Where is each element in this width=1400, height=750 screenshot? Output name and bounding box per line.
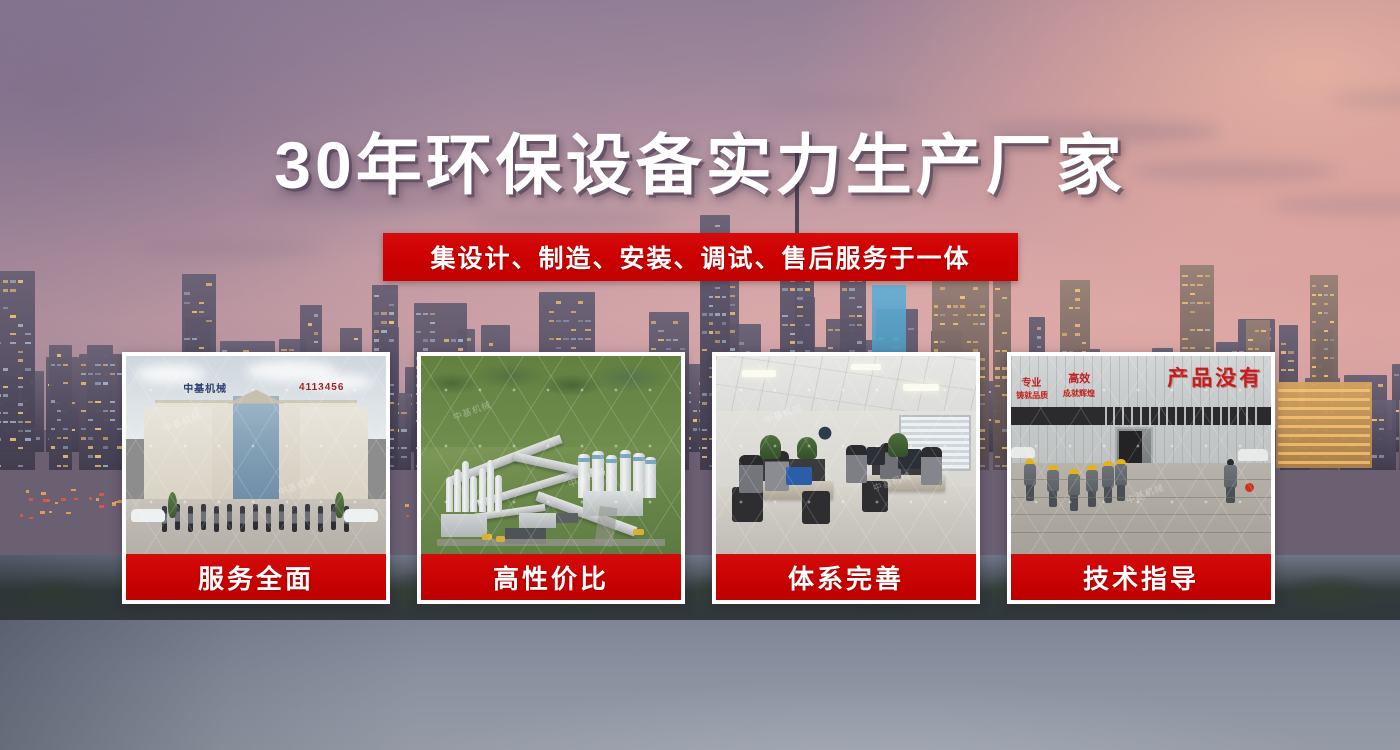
card-photo-headquarters: 中基机械 4113456 中基机械 中基机械: [126, 356, 386, 554]
card-caption-bar: 服务全面: [126, 554, 386, 600]
building-sign: 中基机械: [183, 382, 227, 394]
card-caption-bar: 技术指导: [1011, 554, 1271, 600]
building-phone: 4113456: [299, 382, 344, 393]
card-caption-text: 高性价比: [493, 559, 609, 596]
subtitle-text: 集设计、制造、安装、调试、售后服务于一体: [430, 239, 970, 275]
factory-sign-text: 产品没有: [1167, 362, 1263, 392]
feature-card[interactable]: 产品没有 专业 高效 铸就品质 成就辉煌 中基机械 技术指导: [1007, 352, 1275, 604]
card-photo-workers: 产品没有 专业 高效 铸就品质 成就辉煌 中基机械: [1011, 356, 1271, 554]
page-title: 30年环保设备实力生产厂家: [0, 132, 1400, 198]
feature-card-list: 中基机械 4113456 中基机械 中基机械 服务全面: [122, 352, 1278, 604]
card-caption-text: 服务全面: [198, 559, 314, 596]
feature-card[interactable]: 中基机械 4113456 中基机械 中基机械 服务全面: [122, 352, 390, 604]
card-photo-plant-aerial: 中基机械 中基机械: [421, 356, 681, 554]
feature-card[interactable]: 中基机械 中基机械 高性价比: [417, 352, 685, 604]
card-caption-bar: 体系完善: [716, 554, 976, 600]
feature-card[interactable]: 中基机械 中基机械 体系完善: [712, 352, 980, 604]
subtitle-banner: 集设计、制造、安装、调试、售后服务于一体: [383, 233, 1018, 281]
banner-stage: 30年环保设备实力生产厂家 集设计、制造、安装、调试、售后服务于一体 中基机械 …: [0, 0, 1400, 750]
card-photo-office: 中基机械 中基机械: [716, 356, 976, 554]
card-caption-text: 技术指导: [1083, 559, 1199, 596]
card-caption-bar: 高性价比: [421, 554, 681, 600]
card-caption-text: 体系完善: [788, 559, 904, 596]
